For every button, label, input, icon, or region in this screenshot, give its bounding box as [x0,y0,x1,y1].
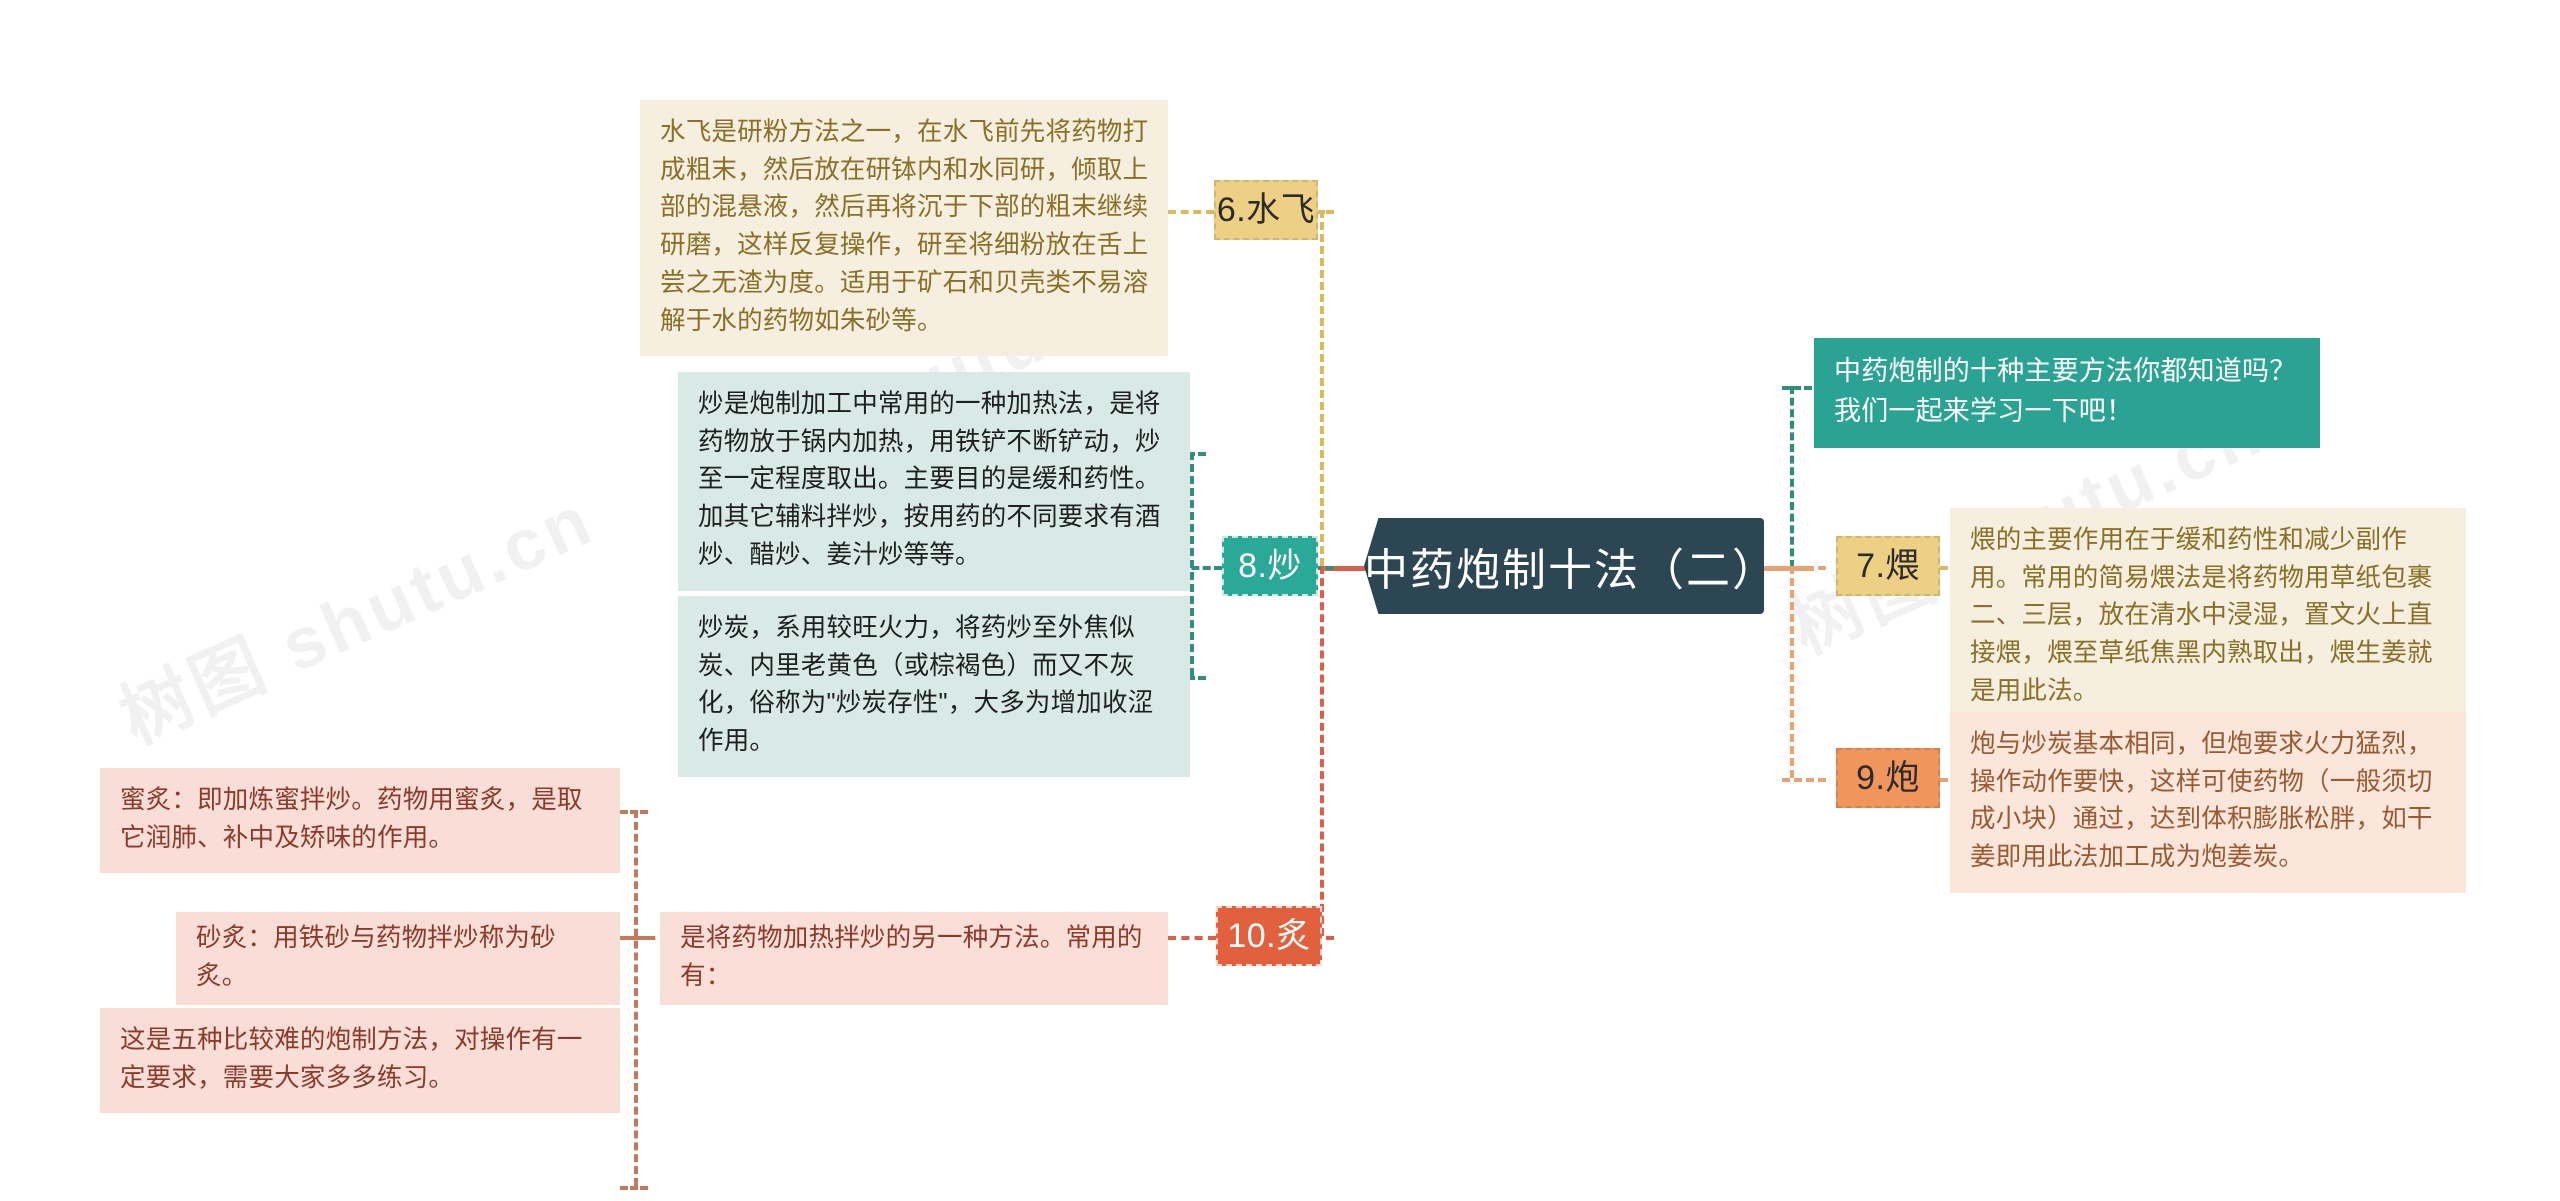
chao-description-text-1: 炒是炮制加工中常用的一种加热法，是将药物放于锅内加热，用铁铲不断铲动，炒至一定程… [698,386,1172,575]
intro-card[interactable]: 中药炮制的十种主要方法你都知道吗？我们一起来学习一下吧！ [1814,338,2320,448]
node-zhi-label: 10.炙 [1227,911,1310,961]
node-pao-label: 9.炮 [1856,753,1920,803]
root-node-title: 中药炮制十法（二） [1364,534,1764,598]
connector-to-intro [1782,386,1812,390]
shuifei-description-card[interactable]: 水飞是研粉方法之一，在水飞前先将药物打成粗末，然后放在研钵内和水同研，倾取上部的… [640,100,1168,356]
connector-left-spine-red [1320,566,1324,936]
node-shuifei[interactable]: 6.水飞 [1214,180,1318,240]
connector-zhi-leadin [1168,936,1216,940]
zhi-item-text-3: 这是五种比较难的炮制方法，对操作有一定要求，需要大家多多练习。 [120,1022,602,1097]
connector-root-right [1760,566,1814,571]
wei-description-card[interactable]: 煨的主要作用在于缓和药性和减少副作用。常用的简易煨法是将药物用草纸包裹二、三层，… [1950,508,2466,727]
node-wei[interactable]: 7.煨 [1836,536,1940,596]
zhi-item-card-2[interactable]: 砂炙：用铁砂与药物拌炒称为砂炙。 [176,912,620,1005]
chao-description-text-2: 炒炭，系用较旺火力，将药炒至外焦似炭、内里老黄色（或棕褐色）而又不灰化，俗称为"… [698,610,1172,761]
connector-zhi-item-1 [620,810,648,814]
node-wei-label: 7.煨 [1856,541,1920,591]
zhi-item-text-2: 砂炙：用铁砂与药物拌炒称为砂炙。 [196,920,602,995]
shuifei-description-text: 水飞是研粉方法之一，在水飞前先将药物打成粗末，然后放在研钵内和水同研，倾取上部的… [660,114,1150,340]
connector-shuifei-desc [1168,210,1214,214]
connector-to-wei [1782,566,1826,570]
connector-chao-vertical [1190,452,1194,676]
zhi-item-text-1: 蜜炙：即加炼蜜拌炒。药物用蜜炙，是取它润肺、补中及矫味的作用。 [120,782,602,857]
root-node[interactable]: 中药炮制十法（二） [1364,518,1764,614]
mindmap-canvas: 树图 shutu.cn 树图 shutu.cn 树图 shutu.cn 水飞是研… [0,0,2560,1201]
connector-zhi-vertical [634,810,638,1186]
watermark: 树图 shutu.cn [101,461,608,764]
chao-description-card-1[interactable]: 炒是炮制加工中常用的一种加热法，是将药物放于锅内加热，用铁铲不断铲动，炒至一定程… [678,372,1190,591]
node-zhi[interactable]: 10.炙 [1216,906,1322,966]
connector-right-spine-teal [1790,386,1794,568]
intro-text: 中药炮制的十种主要方法你都知道吗？我们一起来学习一下吧！ [1834,352,2302,432]
zhi-leadin-text: 是将药物加热拌炒的另一种方法。常用的有： [680,920,1150,995]
pao-description-card[interactable]: 炮与炒炭基本相同，但炮要求火力猛烈，操作动作要快，这样可使药物（一般须切成小块）… [1950,712,2466,893]
connector-zhi-item-3 [620,1186,648,1190]
node-chao[interactable]: 8.炒 [1222,536,1318,596]
node-shuifei-label: 6.水飞 [1217,185,1315,235]
zhi-item-card-1[interactable]: 蜜炙：即加炼蜜拌炒。药物用蜜炙，是取它润肺、补中及矫味的作用。 [100,768,620,873]
connector-to-pao [1782,778,1826,782]
connector-zhi-item-2 [620,936,648,940]
connector-right-spine-orange [1790,566,1794,778]
node-pao[interactable]: 9.炮 [1836,748,1940,808]
chao-description-card-2[interactable]: 炒炭，系用较旺火力，将药炒至外焦似炭、内里老黄色（或棕褐色）而又不灰化，俗称为"… [678,596,1190,777]
zhi-leadin-card[interactable]: 是将药物加热拌炒的另一种方法。常用的有： [660,912,1168,1005]
zhi-item-card-3[interactable]: 这是五种比较难的炮制方法，对操作有一定要求，需要大家多多练习。 [100,1008,620,1113]
wei-description-text: 煨的主要作用在于缓和药性和减少副作用。常用的简易煨法是将药物用草纸包裹二、三层，… [1970,522,2448,711]
pao-description-text: 炮与炒炭基本相同，但炮要求火力猛烈，操作动作要快，这样可使药物（一般须切成小块）… [1970,726,2448,877]
node-chao-label: 8.炒 [1238,541,1302,591]
connector-left-spine-gold [1320,210,1324,566]
